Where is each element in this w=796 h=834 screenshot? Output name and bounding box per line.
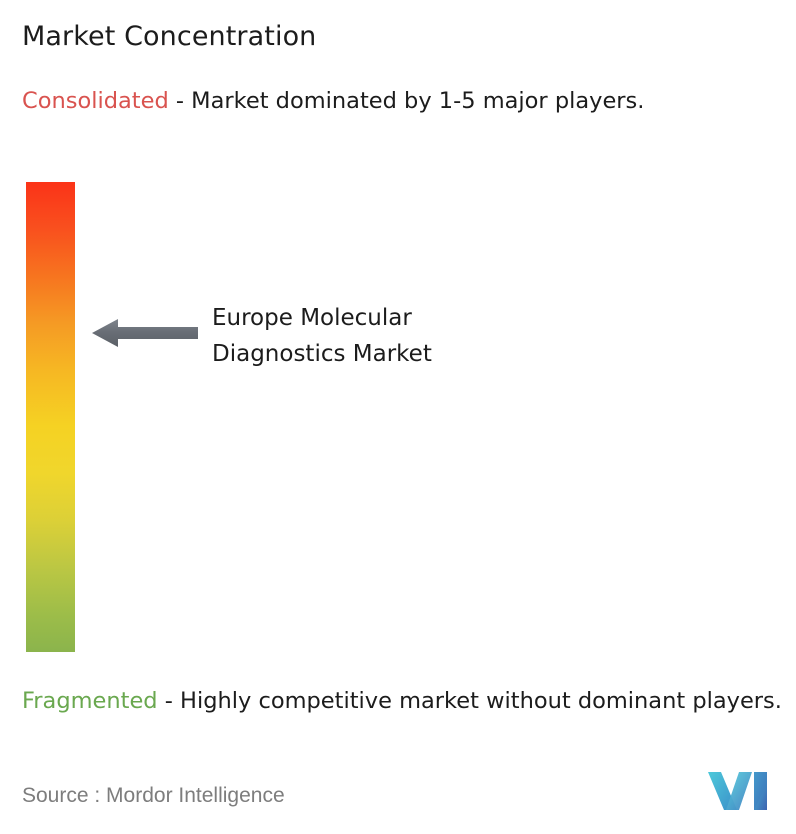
market-callout: Europe Molecular Diagnostics Market	[92, 300, 712, 370]
source-attribution: Source : Mordor Intelligence	[22, 782, 285, 810]
legend-fragmented: Fragmented - Highly competitive market w…	[22, 686, 784, 717]
legend-term-consolidated: Consolidated	[22, 88, 169, 114]
legend-consolidated: Consolidated - Market dominated by 1-5 m…	[22, 86, 772, 117]
legend-description-fragmented: - Highly competitive market without domi…	[165, 688, 782, 714]
mordor-intelligence-logo-icon	[708, 772, 770, 812]
concentration-gradient-scale	[26, 182, 75, 652]
callout-label: Europe Molecular Diagnostics Market	[212, 300, 432, 372]
arrow-left-icon	[92, 318, 198, 348]
market-concentration-infographic: Market Concentration Consolidated - Mark…	[0, 0, 796, 834]
legend-description-consolidated: - Market dominated by 1-5 major players.	[176, 88, 645, 114]
legend-top-separator	[169, 88, 176, 114]
page-title: Market Concentration	[22, 20, 316, 54]
legend-bottom-separator	[158, 688, 165, 714]
legend-term-fragmented: Fragmented	[22, 688, 158, 714]
